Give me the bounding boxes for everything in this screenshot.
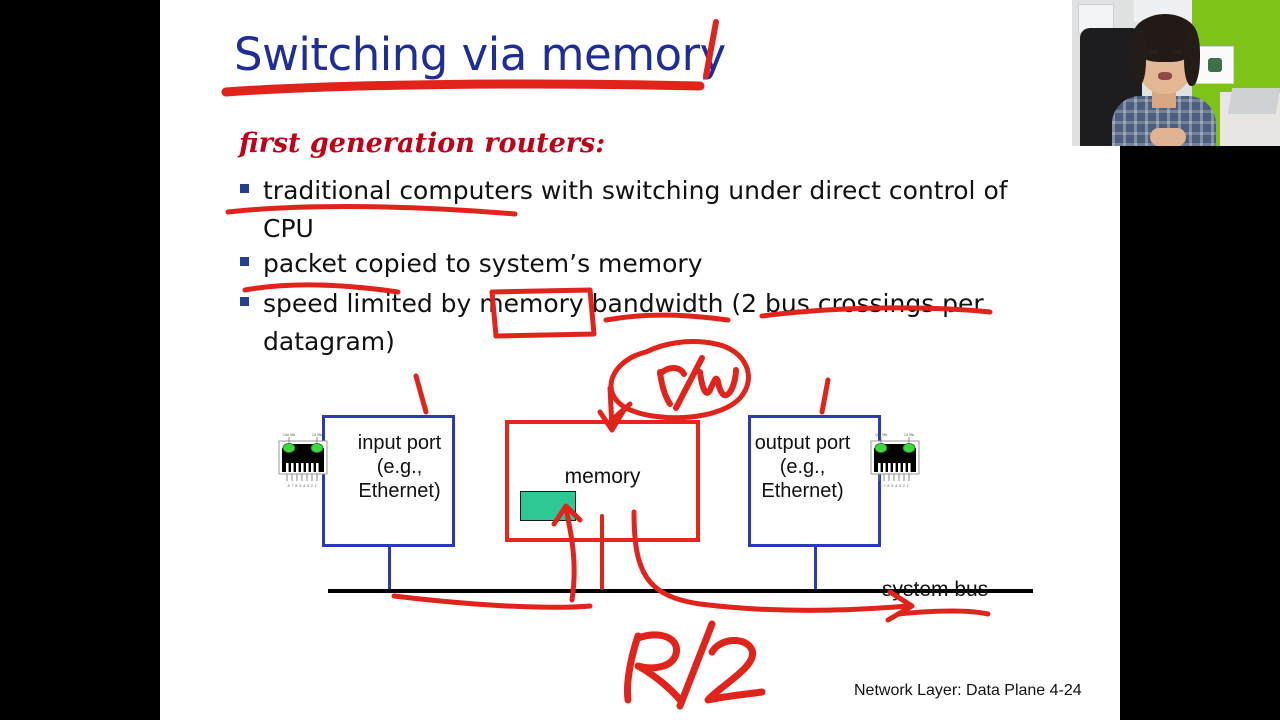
bullet-square-icon	[240, 184, 249, 193]
bullet-text: packet copied to system’s memory	[263, 245, 1040, 283]
svg-text:10 Mb: 10 Mb	[904, 433, 914, 437]
ink-r2-two	[708, 640, 762, 700]
page-title: Switching via memory	[234, 28, 726, 81]
ink-rw-slash	[676, 358, 702, 408]
bullet-square-icon	[240, 297, 249, 306]
input-port-label: input port (e.g., Ethernet)	[325, 431, 452, 503]
ink-bus-stroke	[394, 596, 590, 607]
webcam-presenter-eye-right	[1172, 50, 1182, 54]
presenter-webcam-overlay[interactable]	[1072, 0, 1280, 146]
ink-title-underline	[226, 84, 700, 92]
ink-system-bus-underline	[898, 611, 988, 614]
webcam-presenter-hair-right	[1184, 30, 1200, 86]
output-port-bus-connector	[814, 547, 817, 591]
output-port-box: output port (e.g., Ethernet)	[748, 415, 881, 547]
ink-input-tick	[416, 376, 426, 412]
ink-rw-r-stem	[660, 372, 670, 404]
svg-text:87654321: 87654321	[287, 484, 318, 488]
webcam-presenter-eye-left	[1148, 50, 1158, 54]
webcam-presenter-hands	[1150, 128, 1186, 146]
bullet-text: speed limited by memory bandwidth (2 bus…	[263, 285, 1040, 361]
bullet-item: packet copied to system’s memory	[240, 245, 1040, 283]
ink-rw-w	[700, 370, 736, 395]
svg-text:87654321: 87654321	[879, 484, 910, 488]
section-subheading: first generation routers:	[239, 128, 605, 159]
ink-output-tick	[822, 380, 828, 412]
rj45-jack-icon: 100 Mb 10 Mb 87654321	[870, 432, 920, 490]
memory-chip-block	[520, 491, 576, 521]
svg-text:10 Mb: 10 Mb	[312, 433, 322, 437]
svg-text:100 Mb: 100 Mb	[875, 433, 887, 437]
bullet-item: speed limited by memory bandwidth (2 bus…	[240, 285, 1040, 361]
output-port-label: output port (e.g., Ethernet)	[751, 431, 878, 503]
bullet-text: traditional computers with switching und…	[263, 172, 1040, 248]
memory-label: memory	[505, 465, 700, 489]
webcam-presenter-mouth	[1158, 72, 1172, 80]
webcam-frame-art	[1208, 58, 1222, 72]
ink-r2-r-bowl	[638, 635, 680, 700]
bullet-item: traditional computers with switching und…	[240, 172, 1040, 248]
webcam-laptop	[1228, 88, 1280, 114]
system-bus-label: system bus	[882, 578, 988, 602]
bullet-square-icon	[240, 257, 249, 266]
ink-rw-r-arm	[660, 368, 684, 374]
slide-canvas: Switching via memory first generation ro…	[160, 0, 1120, 720]
ink-r2-slash	[680, 624, 712, 706]
webcam-presenter-hair-left	[1130, 30, 1146, 86]
input-port-box: input port (e.g., Ethernet)	[322, 415, 455, 547]
screen: Switching via memory first generation ro…	[0, 0, 1280, 720]
input-port-bus-connector	[388, 547, 391, 591]
slide-footer: Network Layer: Data Plane 4-24	[854, 682, 1082, 700]
ink-r2-r-stem	[627, 636, 638, 700]
rj45-jack-icon: 100 Mb 10 Mb 87654321	[278, 432, 328, 490]
svg-text:100 Mb: 100 Mb	[283, 433, 295, 437]
